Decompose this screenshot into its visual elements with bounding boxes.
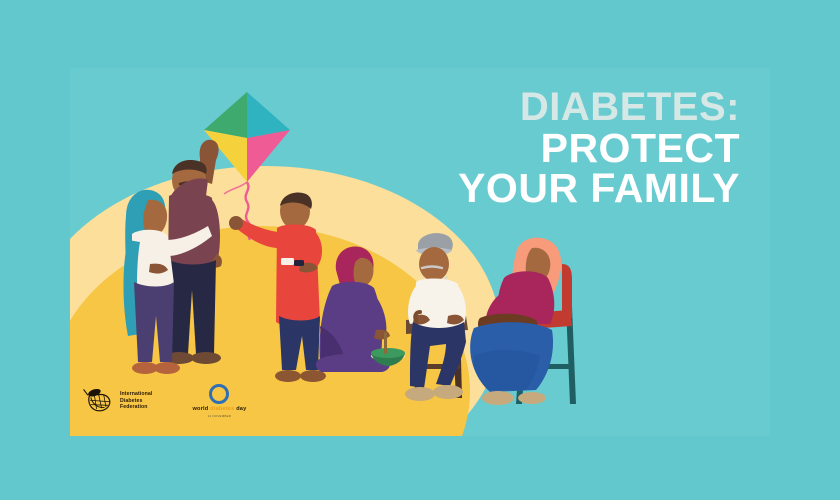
figure-woman-on-chair <box>470 238 576 405</box>
figure-boy-in-red-kurta <box>229 193 326 383</box>
idf-line-1: International <box>120 391 152 397</box>
idf-mark-icon <box>82 388 114 414</box>
wdd-wordmark: world diabetes day <box>192 406 246 412</box>
wdd-word-diabetes: diabetes <box>210 406 234 412</box>
idf-line-3: Federation <box>120 404 152 410</box>
wdd-subtitle: 14 NOVEMBER <box>208 414 232 418</box>
figure-seated-woman-with-bowl <box>316 246 405 372</box>
figure-elderly-man-with-cane <box>405 233 468 401</box>
poster-root: International Diabetes Federation world … <box>0 0 840 500</box>
idf-logo-text: International Diabetes Federation <box>120 391 152 410</box>
page-title: DIABETES: PROTECT YOUR FAMILY <box>458 88 740 209</box>
headline-line-1: DIABETES: <box>458 88 740 128</box>
headline-line-3: YOUR FAMILY <box>458 168 740 209</box>
blue-circle-icon <box>209 384 229 404</box>
idf-logo: International Diabetes Federation <box>82 388 152 414</box>
world-diabetes-day-logo: world diabetes day 14 NOVEMBER <box>192 384 246 418</box>
headline-line-2: PROTECT <box>458 128 740 169</box>
wdd-word-day: day <box>236 406 246 412</box>
wdd-word-world: world <box>192 406 208 412</box>
logo-row: International Diabetes Federation world … <box>82 384 246 418</box>
